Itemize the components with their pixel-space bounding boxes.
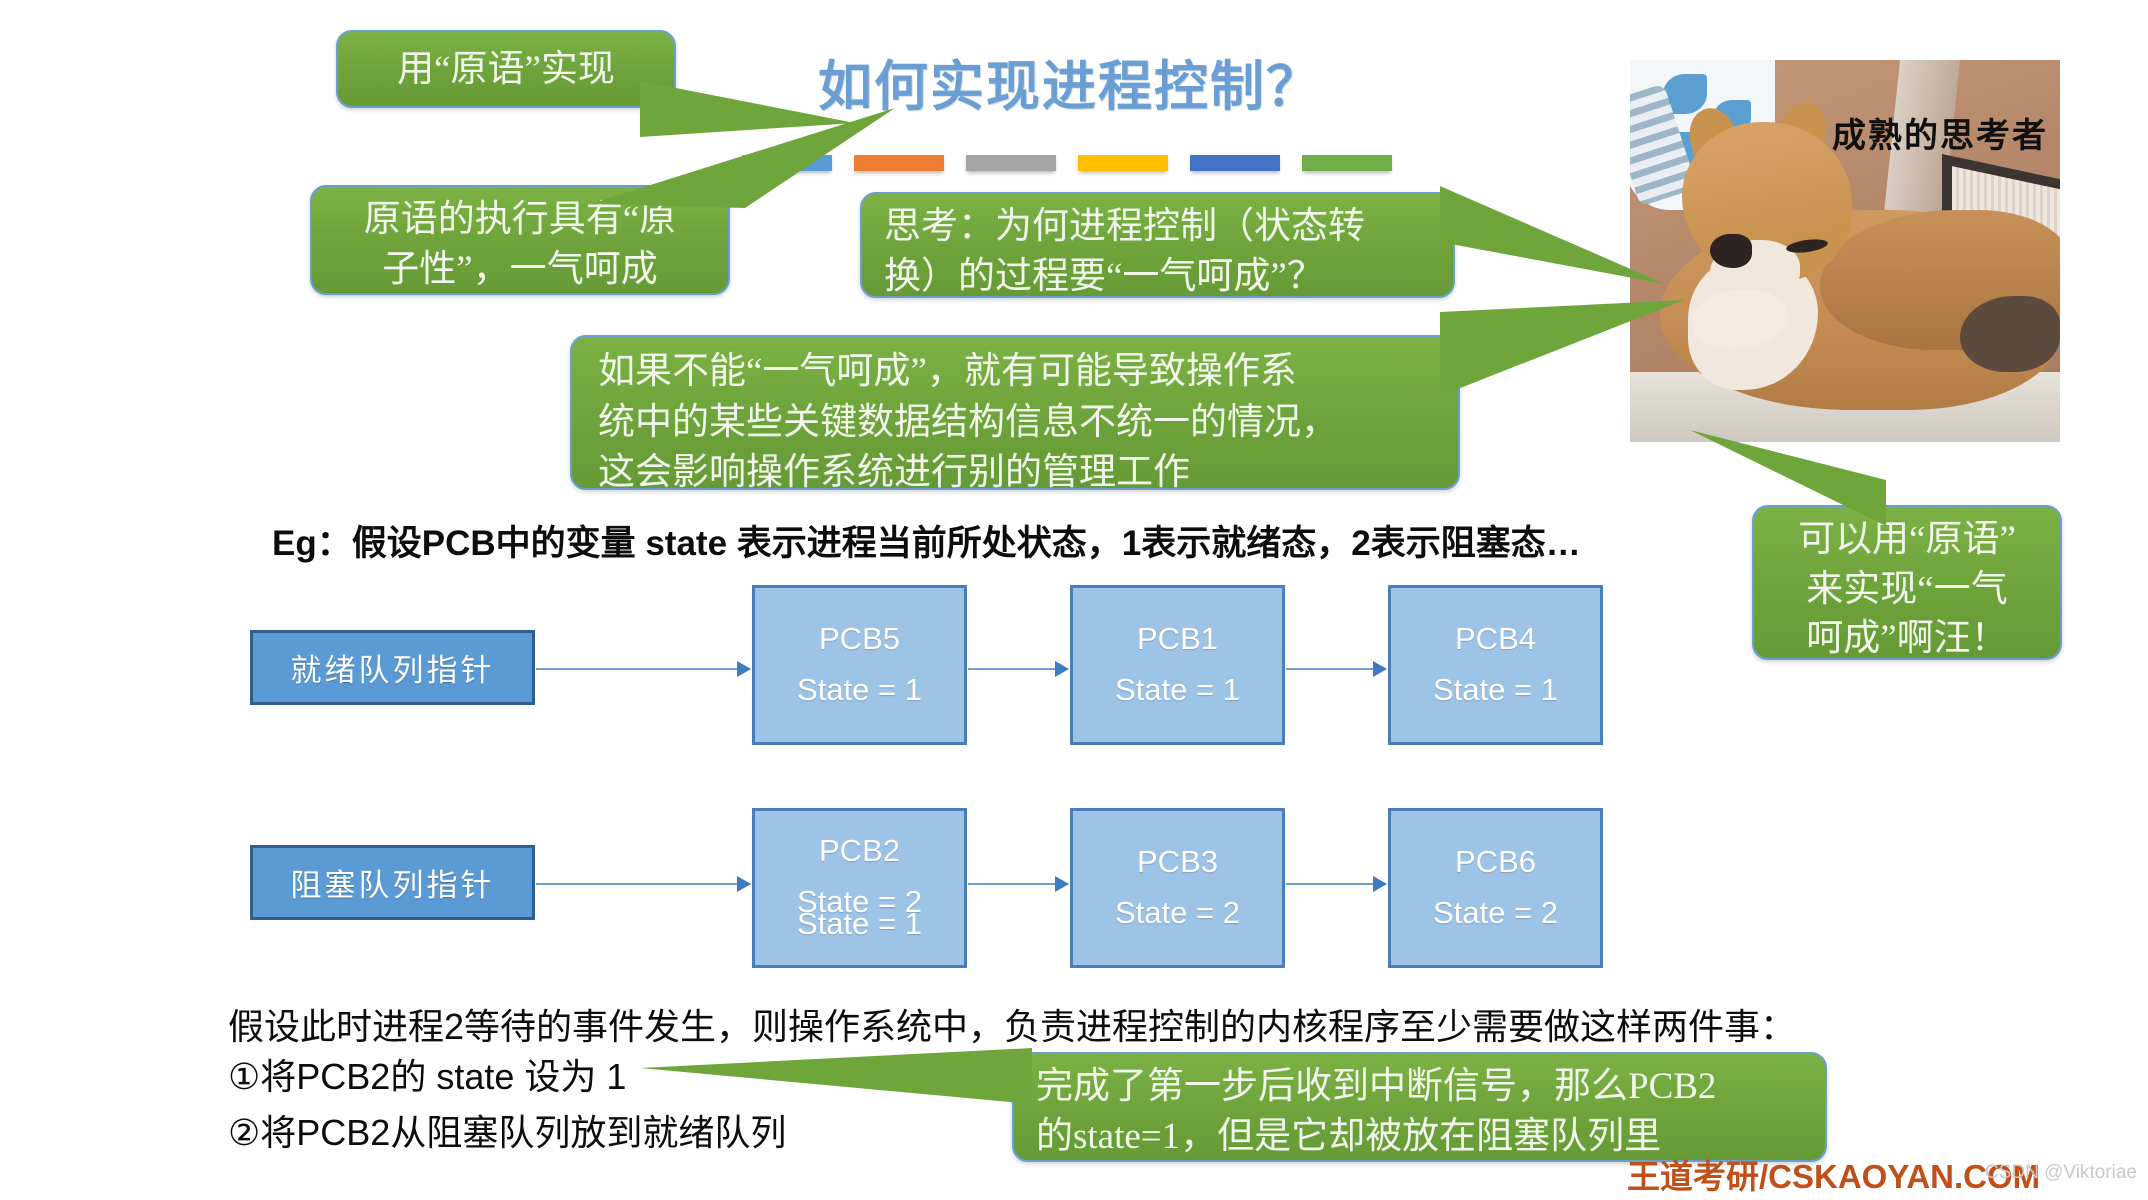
- callout-tail-dog-speech: [1690, 430, 1890, 550]
- arrow-pcb1-to-pcb4: [1286, 668, 1386, 670]
- photo-dog-nose: [1710, 234, 1752, 268]
- blocked-queue-pointer[interactable]: 阻塞队列指针: [250, 845, 535, 920]
- callout-interrupt-line-1: 完成了第一步后收到中断信号，那么PCB2: [1036, 1062, 1803, 1112]
- pcb-node-pcb5[interactable]: PCB5 State = 1: [752, 585, 967, 745]
- photo-dog-tail: [1960, 296, 2060, 372]
- pcb-node-pcb1[interactable]: PCB1 State = 1: [1070, 585, 1285, 745]
- pcb-node-state: State = 1: [1433, 674, 1558, 707]
- photo-caption: 成熟的思考者: [1832, 108, 2048, 157]
- callout-think-line-1: 思考：为何进程控制（状态转: [884, 202, 1431, 252]
- callout-interrupt[interactable]: 完成了第一步后收到中断信号，那么PCB2 的state=1，但是它却被放在阻塞队…: [1012, 1052, 1827, 1162]
- callout-consequence-line-1: 如果不能“一气呵成”，就有可能导致操作系: [598, 347, 1432, 398]
- bar-gray: [966, 155, 1056, 171]
- callout-tail-atomic: [570, 108, 900, 218]
- callout-tail-think: [1440, 180, 1670, 300]
- arrow-pcb2-to-pcb3: [968, 883, 1068, 885]
- pcb-node-name: PCB3: [1137, 846, 1218, 879]
- bottom-lead-text: 假设此时进程2等待的事件发生，则操作系统中，负责进程控制的内核程序至少需要做这样…: [228, 998, 1796, 1050]
- pcb-node-name: PCB6: [1455, 846, 1536, 879]
- example-line: Eg：假设PCB中的变量 state 表示进程当前所处状态，1表示就绪态，2表示…: [272, 515, 1581, 566]
- pcb-node-state: State = 1: [797, 674, 922, 707]
- bar-green: [1302, 155, 1392, 171]
- callout-tail-consequence: [1440, 300, 1690, 420]
- pcb-node-state: State = 1: [1115, 674, 1240, 707]
- ready-queue-pointer[interactable]: 就绪队列指针: [250, 630, 535, 705]
- pcb-node-state: State = 2: [1433, 897, 1558, 930]
- pcb-node-name: PCB4: [1455, 623, 1536, 656]
- pcb-node-pcb4[interactable]: PCB4 State = 1: [1388, 585, 1603, 745]
- callout-primitive[interactable]: 用“原语”实现: [336, 30, 676, 108]
- callout-consequence-line-2: 统中的某些关键数据结构信息不统一的情况，: [598, 398, 1432, 449]
- pcb-node-pcb2[interactable]: PCB2 State = 2 State = 1: [752, 808, 967, 968]
- bar-navy: [1190, 155, 1280, 171]
- callout-dog-speech-line-2: 来实现“一气: [1770, 565, 2044, 615]
- photo-dog-eye: [1785, 237, 1828, 255]
- pcb-node-pcb3[interactable]: PCB3 State = 2: [1070, 808, 1285, 968]
- pcb-node-name: PCB1: [1137, 623, 1218, 656]
- slide-canvas: 如何实现进程控制？: [0, 0, 2148, 1200]
- arrow-pcb5-to-pcb1: [968, 668, 1068, 670]
- watermark-sub: CSDN @Viktoriae: [1985, 1162, 2137, 1184]
- pcb-node-state: State = 2: [1115, 897, 1240, 930]
- pcb-node-name: PCB2: [819, 835, 900, 868]
- callout-atomic-line-2: 子性”，一气呵成: [328, 245, 712, 295]
- callout-consequence[interactable]: 如果不能“一气呵成”，就有可能导致操作系 统中的某些关键数据结构信息不统一的情况…: [570, 335, 1460, 490]
- pcb-node-state-overlay: State = 1: [797, 908, 922, 941]
- bar-yellow: [1078, 155, 1168, 171]
- callout-dog-speech-line-3: 呵成”啊汪！: [1770, 614, 2044, 664]
- pcb-node-pcb6[interactable]: PCB6 State = 2: [1388, 808, 1603, 968]
- bottom-step-1: ①将PCB2的 state 设为 1: [228, 1048, 626, 1100]
- dog-photo: 成熟的思考者: [1630, 60, 2060, 442]
- callout-tail-interrupt: [640, 1046, 1040, 1116]
- pcb-node-name: PCB5: [819, 623, 900, 656]
- callout-think-line-2: 换）的过程要“一气呵成”？: [884, 252, 1431, 302]
- callout-think[interactable]: 思考：为何进程控制（状态转 换）的过程要“一气呵成”？: [860, 192, 1455, 298]
- arrow-blocked-to-pcb2: [536, 883, 750, 885]
- arrow-ready-to-pcb5: [536, 668, 750, 670]
- arrow-pcb3-to-pcb6: [1286, 883, 1386, 885]
- callout-consequence-line-3: 这会影响操作系统进行别的管理工作: [598, 448, 1432, 499]
- callout-primitive-line-1: 用“原语”实现: [356, 42, 656, 98]
- watermark-main: 王道考研/CSKAOYAN.COM: [1627, 1150, 2040, 1198]
